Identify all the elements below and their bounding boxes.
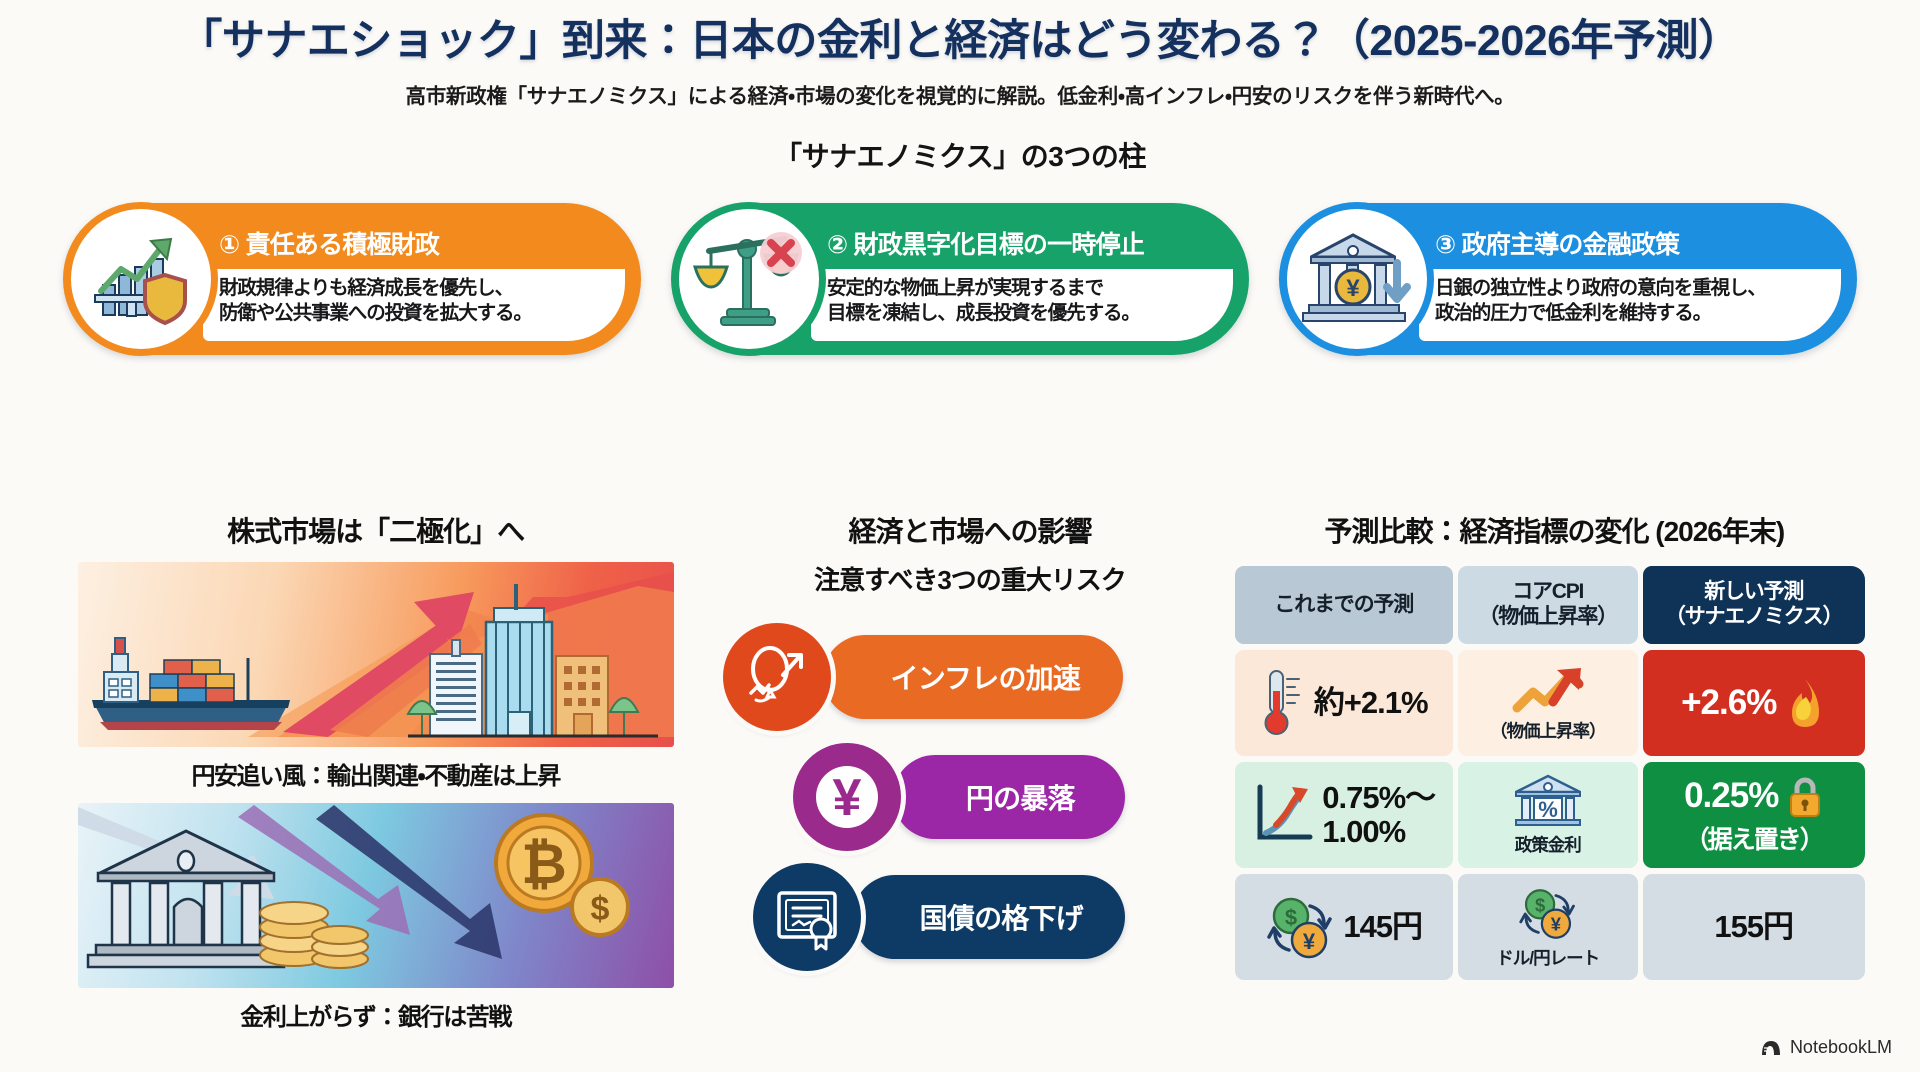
metric-fx-label: ドル/円レート [1496,945,1599,970]
old-forecast-rate-value: 0.75%〜1.00% [1322,781,1435,849]
table-cell-metric-fx: $ ¥ ドル/円レート [1458,874,1638,980]
rising-line-chart-icon [1252,783,1314,847]
table-cell-new-fx: 155円 [1643,874,1865,980]
page-header: 「サナエショック」到来：日本の金利と経済はどう変わる？（2025-2026年予測… [0,0,1920,109]
svg-text:%: % [1538,797,1558,822]
table-cell-metric-cpi: （物価上昇率） [1458,650,1638,756]
balance-scale-x-icon [679,209,819,349]
table-header-new-forecast-label: 新しい予測 （サナエノミクス） [1665,580,1843,630]
risks-section: 経済と市場への影響 注意すべき3つの重大リスク インフレの加速 円 [705,510,1234,1070]
pillar-1-title: ① 責任ある積極財政 [203,217,625,269]
main-columns: 株式市場は「二極化」へ [0,510,1920,1070]
risks-list: インフレの加速 円の暴落 ¥ [705,623,1234,971]
fire-icon [1784,677,1826,729]
dollar-yen-exchange-icon: $ ¥ [1265,892,1335,962]
table-cell-new-rate: 0.25% （据え置き） [1643,762,1865,868]
forecast-table: これまでの予測 コアCPI （物価上昇率） 新しい予測 （サナエノミクス） [1235,566,1874,980]
pillar-3-content: ③ 政府主導の金融政策 日銀の独立性より政府の意向を重視し、 政治的圧力で低金利… [1419,217,1841,341]
bank-yen-down-arrow-icon: ¥ [1287,209,1427,349]
table-header-metric: コアCPI （物価上昇率） [1458,566,1638,644]
stock-panel-2-caption: 金利上がらず：銀行は苦戦 [46,997,705,1032]
stock-panel-1-caption: 円安追い風：輸出関連・不動産は上昇 [46,756,705,791]
footer-brand-label: NotebookLM [1790,1037,1892,1058]
svg-text:¥: ¥ [1303,929,1316,954]
upward-trend-arrow-icon [1509,664,1587,716]
thermometer-icon [1260,667,1306,739]
table-header-new-forecast: 新しい予測 （サナエノミクス） [1643,566,1865,644]
forecast-table-heading: 予測比較：経済指標の変化 (2026年末) [1235,510,1874,550]
balloon-up-arrow-icon [723,623,831,731]
pillar-3-body-line-1: 日銀の独立性より政府の意向を重視し、 [1435,276,1827,302]
pillars-list: ① 責任ある積極財政 財政規律よりも経済成長を優先し、 防衛や公共事業への投資を… [0,195,1920,355]
page-title: 「サナエショック」到来：日本の金利と経済はどう変わる？（2025-2026年予測… [0,16,1920,67]
table-header-old-forecast-label: これまでの予測 [1274,593,1413,618]
svg-text:¥: ¥ [833,769,862,827]
pillar-1-content: ① 責任ある積極財政 財政規律よりも経済成長を優先し、 防衛や公共事業への投資を… [203,217,625,341]
table-row: $ ¥ 145円 [1235,874,1453,980]
pillar-2-content: ② 財政黒字化目標の一時停止 安定的な物価上昇が実現するまで 目標を凍結し、成長… [811,217,1233,341]
table-row: 0.75%〜1.00% [1235,762,1453,868]
pillar-card-1[interactable]: ① 責任ある積極財政 財政規律よりも経済成長を優先し、 防衛や公共事業への投資を… [63,195,641,355]
pillar-3-body: 日銀の独立性より政府の意向を重視し、 政治的圧力で低金利を維持する。 [1419,269,1841,341]
risk-item-2[interactable]: 円の暴落 ¥ [705,743,1234,851]
svg-text:$: $ [1285,905,1297,930]
metric-cpi-label: （物価上昇率） [1490,718,1606,743]
svg-text:¥: ¥ [1550,913,1561,934]
svg-text:$: $ [590,890,609,928]
risk-1-label: インフレの加速 [823,635,1123,719]
growth-chart-shield-icon [71,209,211,349]
pillar-1-body-line-2: 防衛や公共事業への投資を拡大する。 [219,301,611,327]
new-forecast-fx-value: 155円 [1714,910,1793,944]
table-cell-new-cpi: +2.6% [1643,650,1865,756]
lock-icon [1787,775,1823,819]
new-forecast-cpi-value: +2.6% [1681,684,1776,723]
pillar-2-title: ② 財政黒字化目標の一時停止 [811,217,1233,269]
old-forecast-cpi-value: 約+2.1% [1314,686,1428,720]
certificate-icon [753,863,861,971]
page-subtitle: 高市新政権「サナエノミクス」による経済・市場の変化を視覚的に解説。低金利・高イン… [0,79,1920,109]
risk-item-1[interactable]: インフレの加速 [705,623,1234,731]
pillar-1-body-line-1: 財政規律よりも経済成長を優先し、 [219,276,611,302]
stock-section-heading: 株式市場は「二極化」へ [46,510,705,550]
pillar-card-2[interactable]: ② 財政黒字化目標の一時停止 安定的な物価上昇が実現するまで 目標を凍結し、成長… [671,195,1249,355]
pillars-section-heading: 「サナエノミクス」の3つの柱 [0,135,1920,175]
new-forecast-rate-value: 0.25% [1684,777,1778,816]
table-header-metric-label: コアCPI （物価上昇率） [1478,580,1617,630]
old-forecast-fx-value: 145円 [1343,910,1422,944]
pillar-card-3[interactable]: ③ 政府主導の金融政策 日銀の独立性より政府の意向を重視し、 政治的圧力で低金利… [1279,195,1857,355]
risk-item-3[interactable]: 国債の格下げ [705,863,1234,971]
pillar-2-body-line-2: 目標を凍結し、成長投資を優先する。 [827,301,1219,327]
risk-3-label: 国債の格下げ [853,875,1125,959]
metric-rate-label: 政策金利 [1515,832,1581,857]
bank-coins-bitcoin-down-arrow-icon: ₿ $ [78,803,674,988]
table-header-old-forecast: これまでの予測 [1235,566,1453,644]
pillar-2-body-line-1: 安定的な物価上昇が実現するまで [827,276,1219,302]
risks-section-heading: 経済と市場への影響 [705,510,1234,550]
svg-text:$: $ [1535,894,1545,915]
stock-market-section: 株式市場は「二極化」へ [46,510,705,1070]
dollar-yen-exchange-icon: $ ¥ [1516,885,1580,943]
pillar-1-body: 財政規律よりも経済成長を優先し、 防衛や公共事業への投資を拡大する。 [203,269,625,341]
table-row: 約+2.1% [1235,650,1453,756]
svg-text:¥: ¥ [1346,275,1360,302]
footer-brand: NotebookLM [1760,1037,1892,1058]
risk-2-label: 円の暴落 [893,755,1125,839]
pillar-3-title: ③ 政府主導の金融政策 [1419,217,1841,269]
forecast-table-section: 予測比較：経済指標の変化 (2026年末) これまでの予測 コアCPI （物価上… [1235,510,1874,1070]
new-forecast-rate-sub: （据え置き） [1685,820,1823,856]
pillar-3-body-line-2: 政治的圧力で低金利を維持する。 [1435,301,1827,327]
notebooklm-logo-icon [1760,1039,1782,1057]
bank-percent-icon: % [1512,774,1584,830]
risks-section-subheading: 注意すべき3つの重大リスク [705,560,1234,597]
cargo-ship-city-up-arrow-icon [78,562,674,747]
pillar-2-body: 安定的な物価上昇が実現するまで 目標を凍結し、成長投資を優先する。 [811,269,1233,341]
yen-coin-icon: ¥ [793,743,901,851]
svg-text:₿: ₿ [521,832,567,895]
table-cell-metric-rate: % 政策金利 [1458,762,1638,868]
